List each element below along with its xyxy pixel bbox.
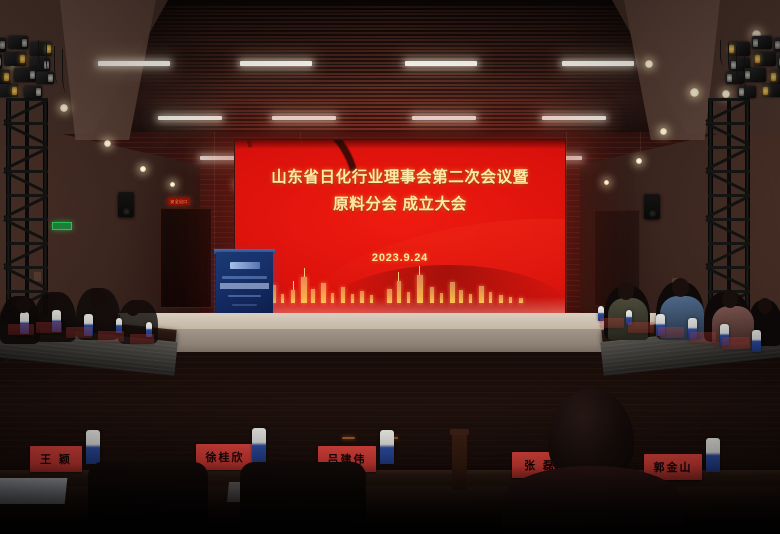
foreground-person-shoulders [502,466,682,534]
ceiling-tube-light [542,116,606,120]
led-stage-screen: 山东省日化行业理事会第二次会议暨 原料分会 成立大会 2023.9.24 [234,139,566,314]
water-bottle [380,430,394,464]
floor-plank-line [0,422,780,423]
floor-light-reflection-1 [342,437,355,439]
ceiling-downlight [690,88,699,97]
floor-plank-line [0,416,780,417]
ceiling-slat [140,102,639,104]
name-placard: 王 颖 [30,446,82,472]
light-cable [744,49,756,93]
ceiling-tube-light [272,116,336,120]
name-placard [628,322,654,333]
ceiling-slat [143,110,637,112]
stage-light-fixture [754,52,776,66]
ceiling-slat [125,54,655,56]
ceiling-slat [130,69,651,71]
water-bottle [252,428,266,462]
floor-plank-line [0,410,780,411]
attendee-head [758,298,772,314]
light-lens [771,73,776,81]
stage-light-fixture [762,84,780,97]
name-placard [690,332,716,343]
ceiling-downlight [140,166,146,172]
water-bottle [706,438,720,472]
truss-brace [708,218,750,221]
floor-plank-line [0,374,780,375]
exit-sign-green-icon [52,222,72,230]
water-bottle [752,330,761,352]
ceiling-slat [133,80,647,82]
ceiling-slat [109,6,671,8]
lectern [216,252,273,314]
ceiling-tube-light [562,61,634,66]
ceiling-slat [115,25,665,27]
name-placard [130,334,154,344]
stage-light-fixture [0,84,18,97]
light-lens [12,87,17,95]
light-cable [62,49,74,93]
wall-panel-seam [566,126,567,316]
stage-light-fixture [0,38,6,52]
name-placard [98,331,124,342]
stage-light-fixture [4,52,26,66]
ceiling-tube-light [412,116,476,120]
led-screen-title: 山东省日化行业理事会第二次会议暨 原料分会 成立大会 [235,170,565,214]
stage-light-fixture [0,70,10,84]
attendee-head [126,300,140,316]
wall-panel-seam [214,126,215,316]
lectern-logo-icon [230,262,260,269]
ceiling-slat [126,58,654,60]
thermos-flask [452,434,467,490]
truss-brace [6,170,48,173]
light-lens [0,58,1,66]
ceiling-tube-light [240,61,312,66]
ceiling-slat [124,50,657,52]
ceiling-slat [138,95,642,97]
light-lens [20,55,25,63]
document-papers [0,478,67,504]
attendee-head [16,296,31,313]
lectern-text-line-1 [222,276,267,279]
light-lens [727,74,732,82]
truss-brace [6,266,48,269]
ceiling-slat [131,73,649,75]
ceiling-tube-light [158,116,222,120]
truss-brace [708,170,750,173]
ceiling-slat [148,124,633,126]
attendee-head [618,282,634,300]
attendee-head [48,292,64,310]
ceiling-slat [110,10,669,12]
light-lens [30,71,35,79]
water-bottle [86,430,100,464]
light-lens [36,88,41,96]
floor-plank-line [0,392,780,393]
truss-brace [708,266,750,269]
floor-plank-line [0,380,780,381]
stage-light-fixture [8,36,28,49]
exit-sign-red-icon: 安全出口 [168,198,190,205]
foreground-chair-mid [240,462,366,534]
ceiling-tube-light [405,61,477,66]
light-lens [22,39,27,47]
ceiling-slat [134,84,645,86]
ceiling-downlight [170,182,175,187]
attendee-head [722,290,738,308]
attendee-head [90,288,106,306]
ceiling-slat [114,21,666,23]
ceiling-slat [146,121,633,123]
stage-light-fixture [14,68,36,82]
light-lens [753,39,758,47]
stage-platform-top [118,313,672,329]
stage-light-fixture [752,36,772,49]
left-door[interactable] [160,208,212,308]
ceiling-slat [136,87,645,89]
thermos-cap [450,429,469,435]
foreground-chair-left [88,462,208,534]
ceiling-slat [120,39,660,41]
left-wall-speaker [118,192,134,217]
stage-light-fixture [770,70,780,84]
name-placard [600,318,624,328]
floor-plank-line [0,428,780,429]
ceiling-slat [144,113,636,115]
conference-hall-photo: 安全出口 山东省日化行业理事会第二次会议暨 原料分会 成立大会 2023.9.2… [0,0,780,534]
floor-plank-line [0,386,780,387]
right-wall-speaker [644,194,660,219]
led-title-line1: 山东省日化行业理事会第二次会议暨 [271,169,529,186]
light-lens [48,74,53,82]
attendee-head [672,278,689,297]
truss-brace [6,122,48,125]
ceiling-slat [149,128,631,130]
truss-brace [708,122,750,125]
ceiling-slat [137,91,643,93]
name-placard [8,324,34,335]
ceiling-slat [139,99,641,101]
light-lens [4,73,9,81]
light-lens [0,41,5,49]
ceiling-slat [113,17,667,19]
ceiling-slat [116,28,663,30]
stage-light-fixture [774,38,780,52]
ceiling-tube-light [98,61,170,66]
truss-brace [6,218,48,221]
ceiling-downlight [104,140,111,147]
stage-light-cluster-left [0,36,74,108]
light-lens [739,88,744,96]
lectern-text-line-3 [232,304,257,306]
ceiling-downlight [604,180,609,185]
lectern-text-line-2 [228,295,261,297]
name-placard [36,322,62,333]
ceiling-slat [122,47,657,49]
ceiling-slat [119,36,661,38]
ceiling-downlight [636,158,642,164]
ceiling-slat [132,76,648,78]
floor-plank-line [0,404,780,405]
led-title-line2: 原料分会 成立大会 [235,197,565,213]
name-placard [658,327,684,338]
ceiling-slat [142,106,639,108]
stage-light-fixture [0,54,2,69]
floor-plank-line [0,398,780,399]
stage-light-fixture [24,86,42,98]
ceiling-downlight [645,60,653,68]
name-placard [722,337,750,349]
light-lens [763,87,768,95]
lectern-text-banner [220,283,269,289]
light-lens [775,41,780,49]
ceiling-downlight [660,128,667,135]
ceiling-slat [118,32,663,34]
name-placard [66,327,92,338]
led-bottom-glare [235,297,565,313]
stage-light-cluster-right [706,36,780,108]
ceiling-slat [112,13,669,15]
ceiling-slat [121,43,659,45]
